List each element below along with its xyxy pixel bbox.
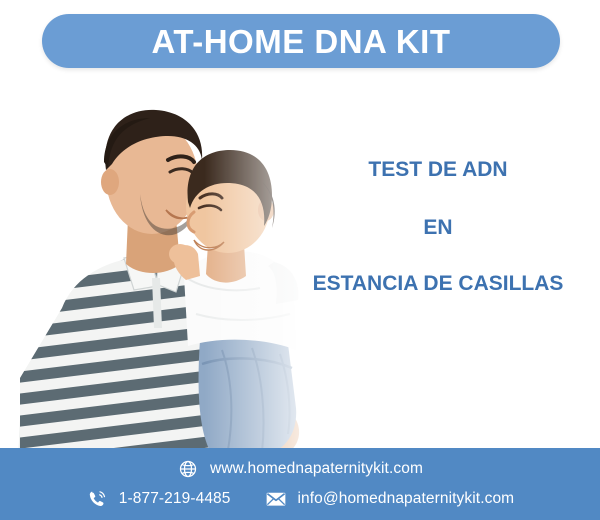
photo-illustration: [0, 78, 330, 460]
headline-line-1: TEST DE ADN: [288, 158, 588, 181]
globe-icon: [177, 458, 199, 480]
headline-line-2: EN: [288, 216, 588, 239]
dna-kit-promo-poster: AT-HOME DNA KIT: [0, 0, 600, 520]
footer-phone-email-row: 1-877-219-4485 info@homednapaternitykit.…: [0, 488, 600, 510]
website-contact-item[interactable]: www.homednapaternitykit.com: [177, 458, 423, 480]
email-label: info@homednapaternitykit.com: [298, 490, 515, 508]
phone-contact-item[interactable]: 1-877-219-4485: [86, 488, 231, 510]
headline-line-3: ESTANCIA DE CASILLAS: [288, 272, 588, 295]
header-banner: AT-HOME DNA KIT: [42, 14, 560, 68]
phone-label: 1-877-219-4485: [119, 490, 231, 508]
phone-icon: [86, 488, 108, 510]
header-title: AT-HOME DNA KIT: [152, 25, 451, 58]
website-label: www.homednapaternitykit.com: [210, 460, 423, 478]
father-holding-toddler-photo: [0, 78, 330, 460]
headline-block: TEST DE ADN EN ESTANCIA DE CASILLAS: [288, 158, 588, 295]
email-contact-item[interactable]: info@homednapaternitykit.com: [265, 488, 515, 510]
footer-contact-bar: www.homednapaternitykit.com 1-877-219-44…: [0, 448, 600, 520]
envelope-icon: [265, 488, 287, 510]
footer-website-row: www.homednapaternitykit.com: [0, 458, 600, 480]
